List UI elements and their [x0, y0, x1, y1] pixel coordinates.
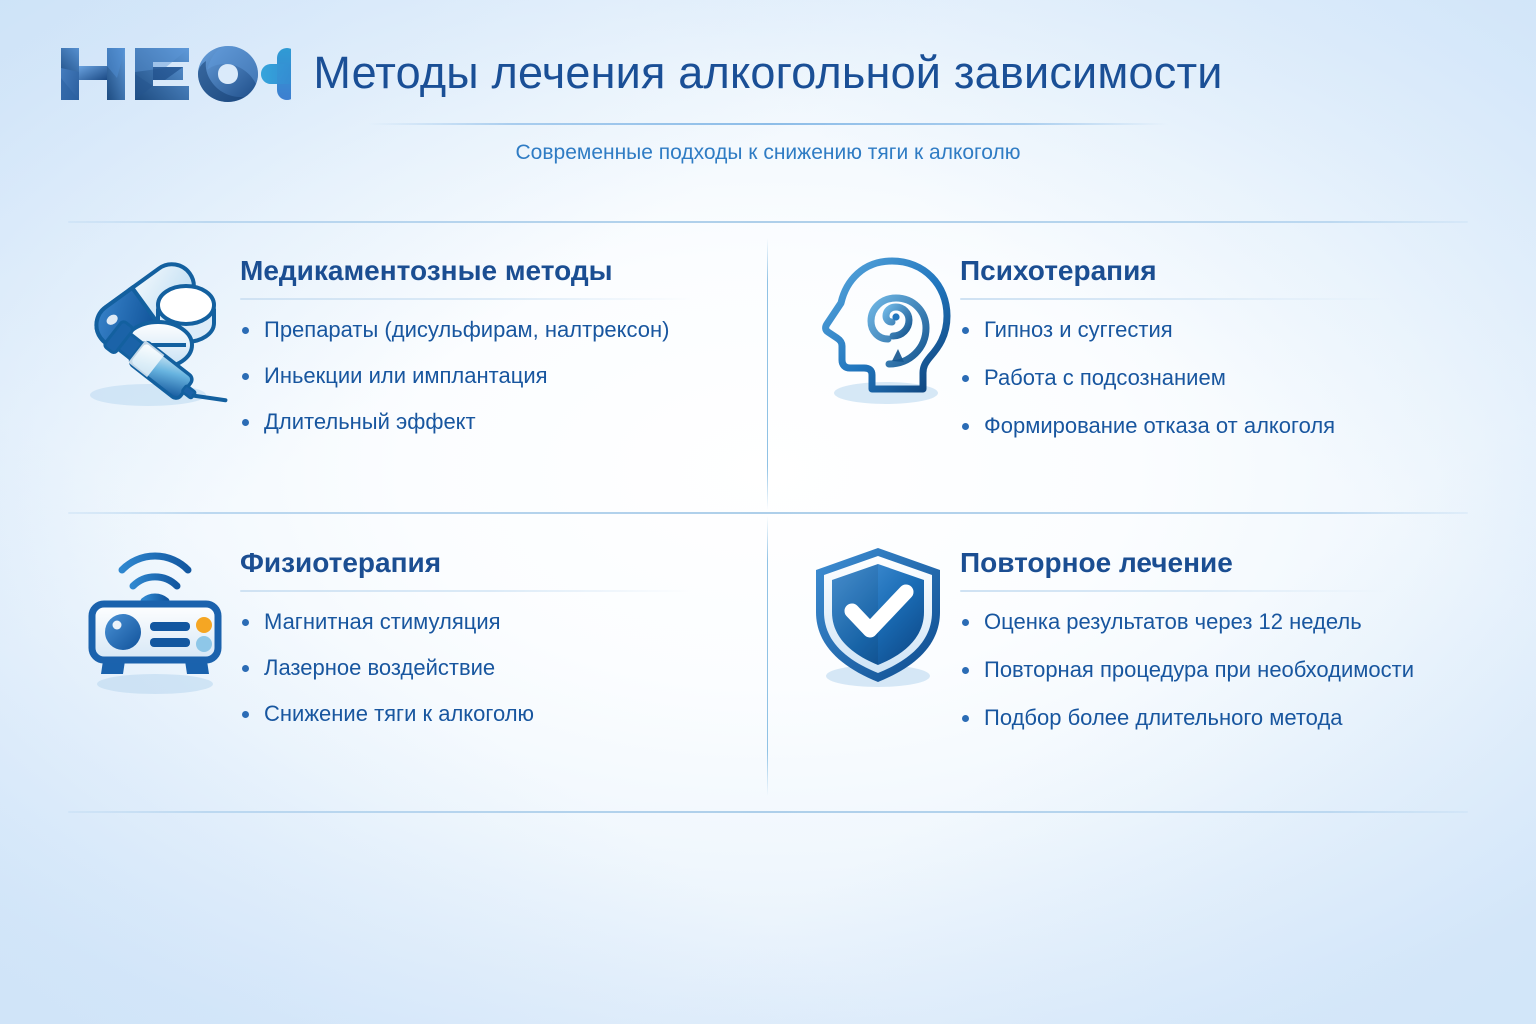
- card-bullet-list: Магнитная стимуляция Лазерное воздействи…: [240, 592, 770, 730]
- card-bullet-list: Гипноз и суггестия Работа с подсознанием…: [960, 300, 1500, 442]
- card-heading: Медикаментозные методы: [240, 253, 770, 289]
- card-heading: Физиотерапия: [240, 545, 770, 581]
- infographic-poster: Методы лечения алкогольной зависимости С…: [0, 0, 1536, 1024]
- cards-grid: Медикаментозные методы Препараты (дисуль…: [0, 221, 1536, 811]
- list-item: Подбор более длительного метода: [960, 702, 1500, 734]
- bullet-dot-icon: [242, 711, 249, 718]
- logo-letter-e: [135, 48, 189, 100]
- bullet-dot-icon: [242, 665, 249, 672]
- header: Методы лечения алкогольной зависимости С…: [0, 0, 1536, 200]
- card-body: Повторное лечение Оценка результатов чер…: [960, 521, 1500, 750]
- list-item: Повторная процедура при необходимости: [960, 654, 1500, 686]
- signal-waves-shape: [122, 556, 188, 601]
- divider-bottom: [68, 811, 1468, 813]
- card-medication: Медикаментозные методы Препараты (дисуль…: [70, 229, 770, 519]
- card-heading: Психотерапия: [960, 253, 1500, 289]
- bullet-text: Работа с подсознанием: [984, 365, 1226, 390]
- list-item: Снижение тяги к алкоголю: [240, 698, 770, 730]
- page-title: Методы лечения алкогольной зависимости: [300, 44, 1236, 102]
- card-bullet-list: Препараты (дисульфирам, налтрексон) Инье…: [240, 300, 770, 438]
- device-knob-icon: [105, 614, 141, 650]
- bullet-text: Формирование отказа от алкоголя: [984, 413, 1335, 438]
- card-body: Физиотерапия Магнитная стимуляция Лазерн…: [240, 521, 770, 730]
- bullet-text: Гипноз и суггестия: [984, 317, 1173, 342]
- bullet-dot-icon: [242, 619, 249, 626]
- bullet-dot-icon: [962, 619, 969, 626]
- device-bar: [150, 622, 190, 631]
- logo-svg: [55, 38, 291, 110]
- led-blue-icon: [196, 636, 212, 652]
- page-subtitle: Современные подходы к снижению тяги к ал…: [300, 138, 1236, 168]
- icon-shadow: [97, 674, 213, 694]
- bullet-dot-icon: [962, 715, 969, 722]
- list-item: Препараты (дисульфирам, налтрексон): [240, 314, 770, 346]
- list-item: Магнитная стимуляция: [240, 606, 770, 638]
- shield-check-icon: [800, 537, 960, 707]
- bullet-text: Магнитная стимуляция: [264, 609, 501, 634]
- list-item: Работа с подсознанием: [960, 362, 1500, 394]
- card-heading: Повторное лечение: [960, 545, 1500, 581]
- bullet-dot-icon: [242, 419, 249, 426]
- led-orange-icon: [196, 617, 212, 633]
- neo-plus-logo: [55, 38, 291, 110]
- bullet-dot-icon: [962, 423, 969, 430]
- pills-syringe-icon: [70, 245, 240, 415]
- logo-letter-o: [198, 46, 258, 102]
- device-bar: [150, 638, 190, 647]
- bullet-text: Снижение тяги к алкоголю: [264, 701, 534, 726]
- logo-letter-n: [61, 48, 125, 100]
- list-item: Длительный эффект: [240, 406, 770, 438]
- bullet-text: Подбор более длительного метода: [984, 705, 1343, 730]
- bullet-text: Препараты (дисульфирам, налтрексон): [264, 317, 670, 342]
- bullet-text: Лазерное воздействие: [264, 655, 495, 680]
- card-body: Медикаментозные методы Препараты (дисуль…: [240, 229, 770, 438]
- card-bullet-list: Оценка результатов через 12 недель Повто…: [960, 592, 1500, 734]
- list-item: Иньекции или имплантация: [240, 360, 770, 392]
- card-body: Психотерапия Гипноз и суггестия Работа с…: [960, 229, 1500, 458]
- bullet-dot-icon: [962, 327, 969, 334]
- list-item: Гипноз и суггестия: [960, 314, 1500, 346]
- list-item: Формирование отказа от алкоголя: [960, 410, 1500, 442]
- list-item: Оценка результатов через 12 недель: [960, 606, 1500, 638]
- list-item: Лазерное воздействие: [240, 652, 770, 684]
- bullet-text: Иньекции или имплантация: [264, 363, 548, 388]
- card-physiotherapy: Физиотерапия Магнитная стимуляция Лазерн…: [70, 521, 770, 811]
- bullet-dot-icon: [242, 373, 249, 380]
- bullet-text: Длительный эффект: [264, 409, 476, 434]
- bullet-text: Оценка результатов через 12 недель: [984, 609, 1362, 634]
- bullet-dot-icon: [962, 667, 969, 674]
- therapy-device-icon: [70, 537, 240, 707]
- logo-plus-icon: [261, 48, 291, 100]
- title-divider: [368, 123, 1168, 125]
- bullet-dot-icon: [242, 327, 249, 334]
- head-spiral-icon: [800, 245, 960, 415]
- card-repeat-treatment: Повторное лечение Оценка результатов чер…: [800, 521, 1500, 811]
- card-psychotherapy: Психотерапия Гипноз и суггестия Работа с…: [800, 229, 1500, 519]
- bullet-dot-icon: [962, 375, 969, 382]
- bullet-text: Повторная процедура при необходимости: [984, 657, 1414, 682]
